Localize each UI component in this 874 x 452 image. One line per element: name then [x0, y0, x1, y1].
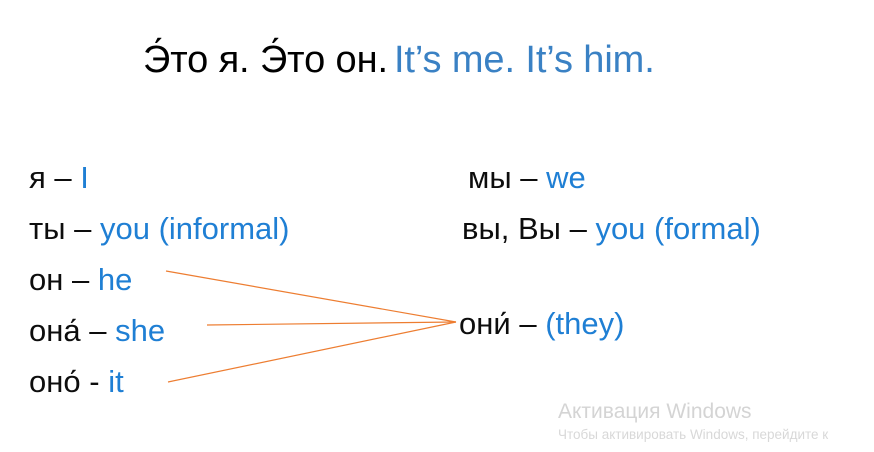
watermark-subtitle: Чтобы активировать Windows, перейдите к — [558, 425, 874, 444]
pronoun-row-oni: они́ – (they) — [459, 300, 624, 347]
pronoun-row-ya: я – I — [29, 152, 289, 203]
pronoun-english: she — [115, 313, 165, 348]
title-english: It’s me. It’s him. — [394, 39, 655, 81]
pronoun-row-ty: ты – you (informal) — [29, 203, 289, 254]
pronoun-column-singular: я – I ты – you (informal) он – he она́ –… — [29, 152, 289, 407]
slide-canvas: Э́то я. Э́то он.It’s me. It’s him. я – I… — [0, 0, 874, 452]
pronoun-russian: вы, Вы — [462, 211, 561, 246]
pronoun-russian: ты — [29, 211, 65, 246]
title-russian: Э́то я. Э́то он. — [143, 39, 388, 81]
pronoun-dash: – — [570, 211, 587, 246]
pronoun-english: you (formal) — [595, 211, 760, 246]
pronoun-russian: я — [29, 160, 46, 195]
pronoun-russian: он — [29, 262, 63, 297]
watermark-title: Активация Windows — [558, 399, 874, 425]
pronoun-dash: – — [54, 160, 71, 195]
pronoun-row-my: мы – we — [462, 152, 761, 203]
pronoun-dash: - — [89, 364, 99, 399]
pronoun-column-plural: мы – we вы, Вы – you (formal) — [462, 152, 761, 254]
pronoun-english: we — [546, 160, 586, 195]
pronoun-row-ono: оно́ - it — [29, 356, 289, 407]
pronoun-english: you (informal) — [100, 211, 290, 246]
pronoun-row-vy: вы, Вы – you (formal) — [462, 203, 761, 254]
pronoun-english: it — [108, 364, 124, 399]
pronoun-dash: – — [519, 306, 536, 341]
pronoun-russian: мы — [468, 160, 512, 195]
pronoun-russian: оно́ — [29, 364, 81, 399]
pronoun-dash: – — [89, 313, 106, 348]
pronoun-english: I — [80, 160, 89, 195]
windows-activation-watermark: Активация Windows Чтобы активировать Win… — [558, 399, 874, 444]
page-title: Э́то я. Э́то он.It’s me. It’s him. — [143, 41, 655, 79]
pronoun-dash: – — [520, 160, 537, 195]
pronoun-row-ona: она́ – she — [29, 305, 289, 356]
pronoun-dash: – — [72, 262, 89, 297]
pronoun-english: (they) — [545, 306, 624, 341]
pronoun-dash: – — [74, 211, 91, 246]
pronoun-english: he — [98, 262, 132, 297]
pronoun-row-on: он – he — [29, 254, 289, 305]
pronoun-russian: она́ — [29, 313, 81, 348]
pronoun-russian: они́ — [459, 306, 511, 341]
